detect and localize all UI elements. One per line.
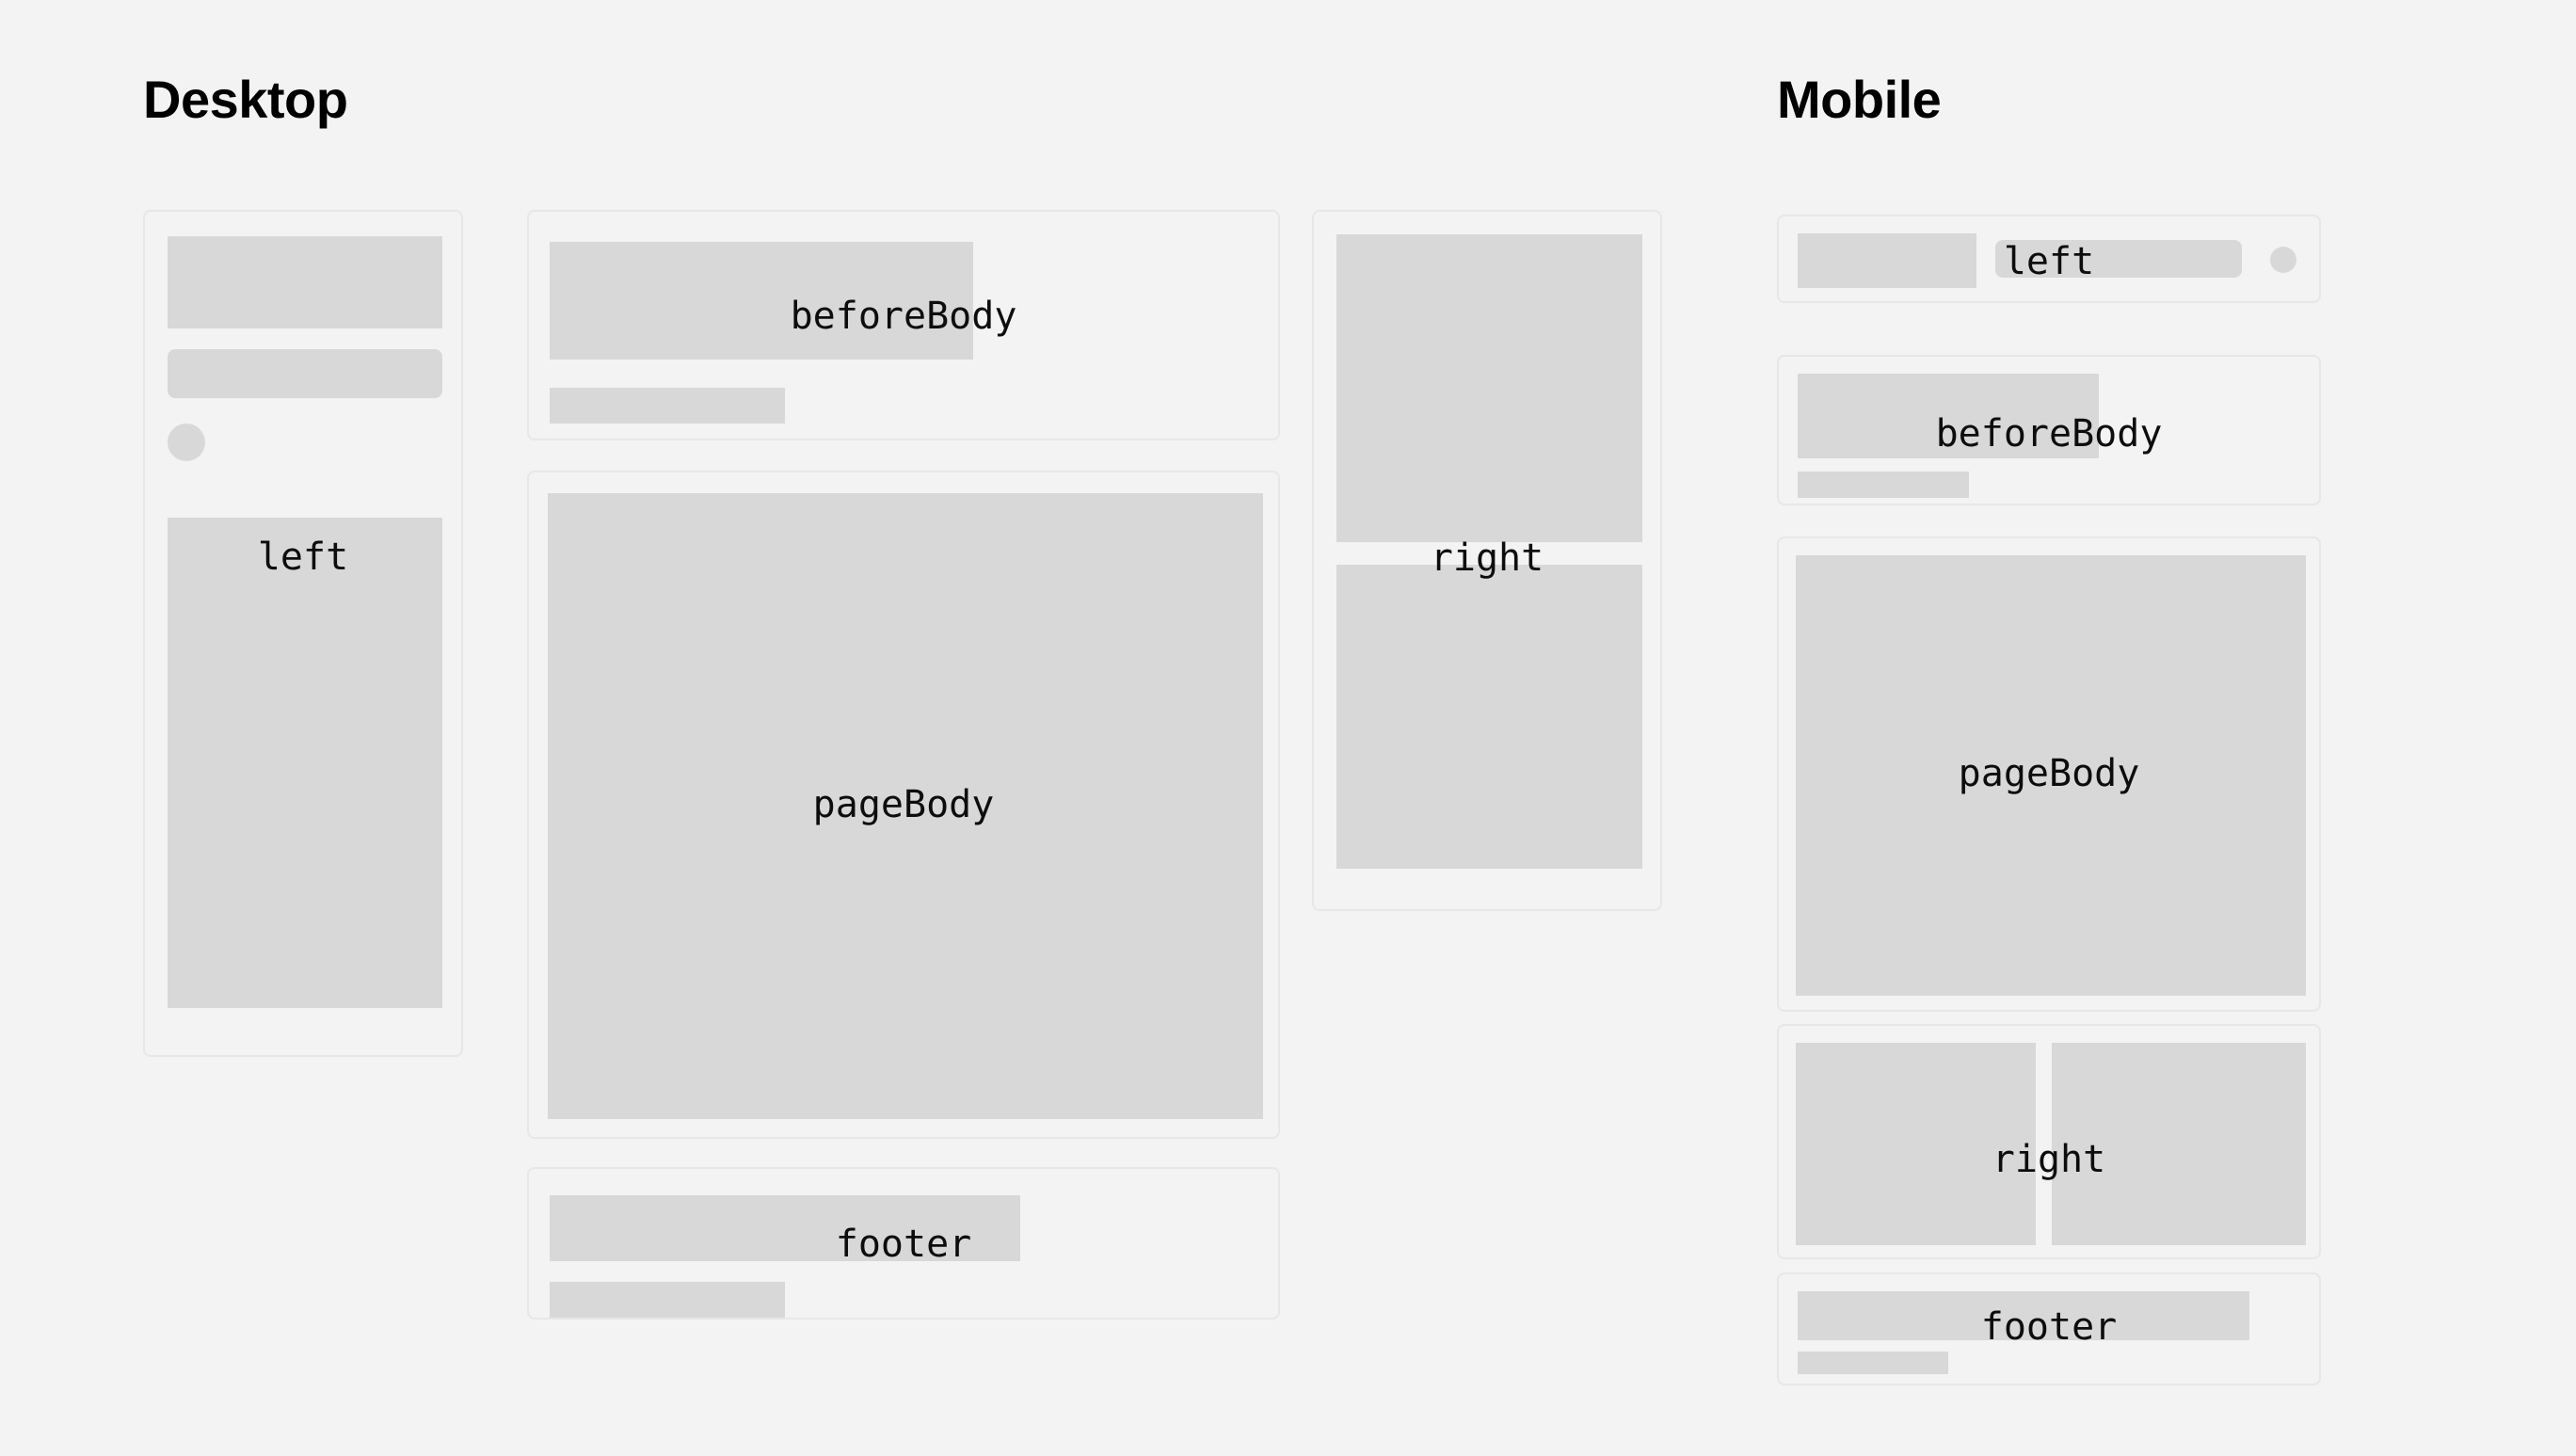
- desktop-left-panel[interactable]: [143, 210, 463, 1057]
- mobile-section-title: Mobile: [1777, 73, 1941, 126]
- skeleton-block: [1336, 565, 1642, 869]
- desktop-footer-panel[interactable]: [527, 1167, 1280, 1320]
- skeleton-block: [168, 236, 442, 328]
- desktop-beforebody-panel[interactable]: [527, 210, 1280, 440]
- skeleton-block: [550, 388, 785, 424]
- skeleton-block: [1796, 555, 2306, 996]
- mobile-footer-panel[interactable]: [1777, 1272, 2321, 1385]
- skeleton-avatar-circle: [168, 424, 205, 461]
- skeleton-block: [1798, 1352, 1948, 1374]
- skeleton-block: [1798, 1291, 2249, 1340]
- skeleton-block: [2052, 1043, 2306, 1245]
- skeleton-avatar-circle: [2270, 247, 2296, 273]
- skeleton-block: [168, 349, 442, 398]
- skeleton-block: [550, 242, 973, 360]
- skeleton-block: [1336, 234, 1642, 542]
- skeleton-block: [550, 1282, 785, 1318]
- desktop-pagebody-panel[interactable]: [527, 471, 1280, 1139]
- skeleton-block: [1798, 374, 2099, 458]
- skeleton-block: [550, 1195, 1020, 1261]
- skeleton-block: [1995, 240, 2242, 278]
- mobile-pagebody-panel[interactable]: [1777, 536, 2321, 1012]
- desktop-section-title: Desktop: [143, 73, 347, 126]
- skeleton-block: [548, 493, 1263, 1119]
- skeleton-block: [168, 518, 442, 1008]
- mobile-beforebody-panel[interactable]: [1777, 355, 2321, 505]
- skeleton-block: [1798, 233, 1976, 288]
- skeleton-block: [1798, 472, 1969, 498]
- desktop-right-panel[interactable]: [1312, 210, 1662, 911]
- mobile-left-panel[interactable]: [1777, 215, 2321, 303]
- mobile-right-panel[interactable]: [1777, 1024, 2321, 1259]
- skeleton-block: [1796, 1043, 2036, 1245]
